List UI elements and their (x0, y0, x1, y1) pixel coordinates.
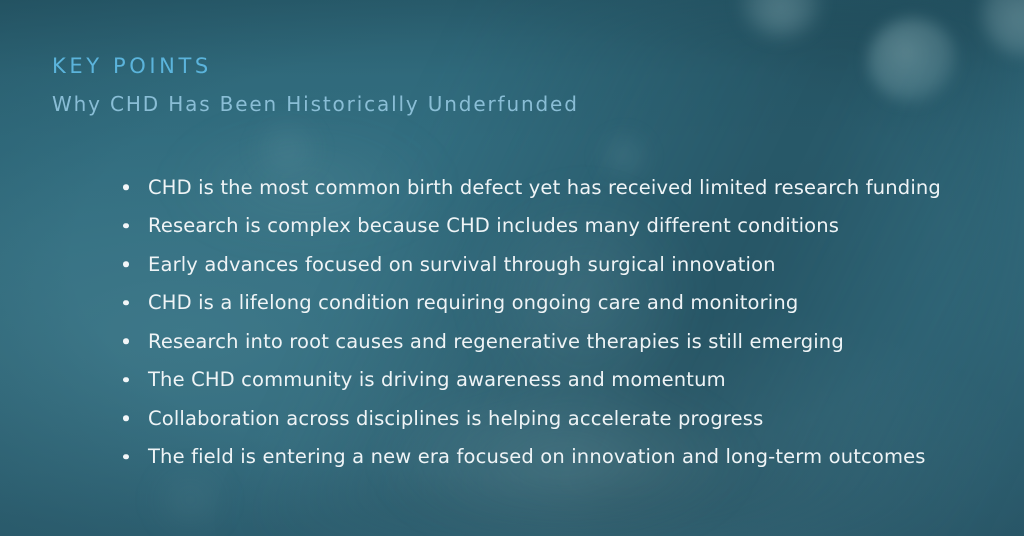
list-item-label: The CHD community is driving awareness a… (148, 368, 726, 391)
bullet-dot-icon (123, 454, 129, 460)
list-item: Research into root causes and regenerati… (118, 322, 998, 361)
slide-content: KEY POINTS Why CHD Has Been Historically… (0, 0, 1024, 536)
list-item: Collaboration across disciplines is help… (118, 399, 998, 438)
bullet-dot-icon (123, 339, 129, 345)
key-points-list: CHD is the most common birth defect yet … (118, 168, 998, 476)
list-item-label: Research is complex because CHD includes… (148, 214, 839, 237)
section-eyebrow: KEY POINTS (52, 54, 212, 78)
list-item: CHD is the most common birth defect yet … (118, 168, 998, 207)
bullet-dot-icon (123, 300, 129, 306)
bullet-dot-icon (123, 262, 129, 268)
list-item: CHD is a lifelong condition requiring on… (118, 284, 998, 323)
list-item: Early advances focused on survival throu… (118, 245, 998, 284)
bullet-dot-icon (123, 377, 129, 383)
list-item: The field is entering a new era focused … (118, 438, 998, 477)
page-title: Why CHD Has Been Historically Underfunde… (52, 92, 579, 116)
list-item-label: CHD is the most common birth defect yet … (148, 176, 941, 199)
bullet-dot-icon (123, 416, 129, 422)
list-item: The CHD community is driving awareness a… (118, 361, 998, 400)
bullet-dot-icon (123, 185, 129, 191)
list-item-label: Early advances focused on survival throu… (148, 253, 776, 276)
list-item-label: CHD is a lifelong condition requiring on… (148, 291, 798, 314)
key-points-slide: KEY POINTS Why CHD Has Been Historically… (0, 0, 1024, 536)
list-item-label: Collaboration across disciplines is help… (148, 407, 763, 430)
list-item-label: The field is entering a new era focused … (148, 445, 926, 468)
list-item: Research is complex because CHD includes… (118, 207, 998, 246)
list-item-label: Research into root causes and regenerati… (148, 330, 844, 353)
bullet-dot-icon (123, 223, 129, 229)
